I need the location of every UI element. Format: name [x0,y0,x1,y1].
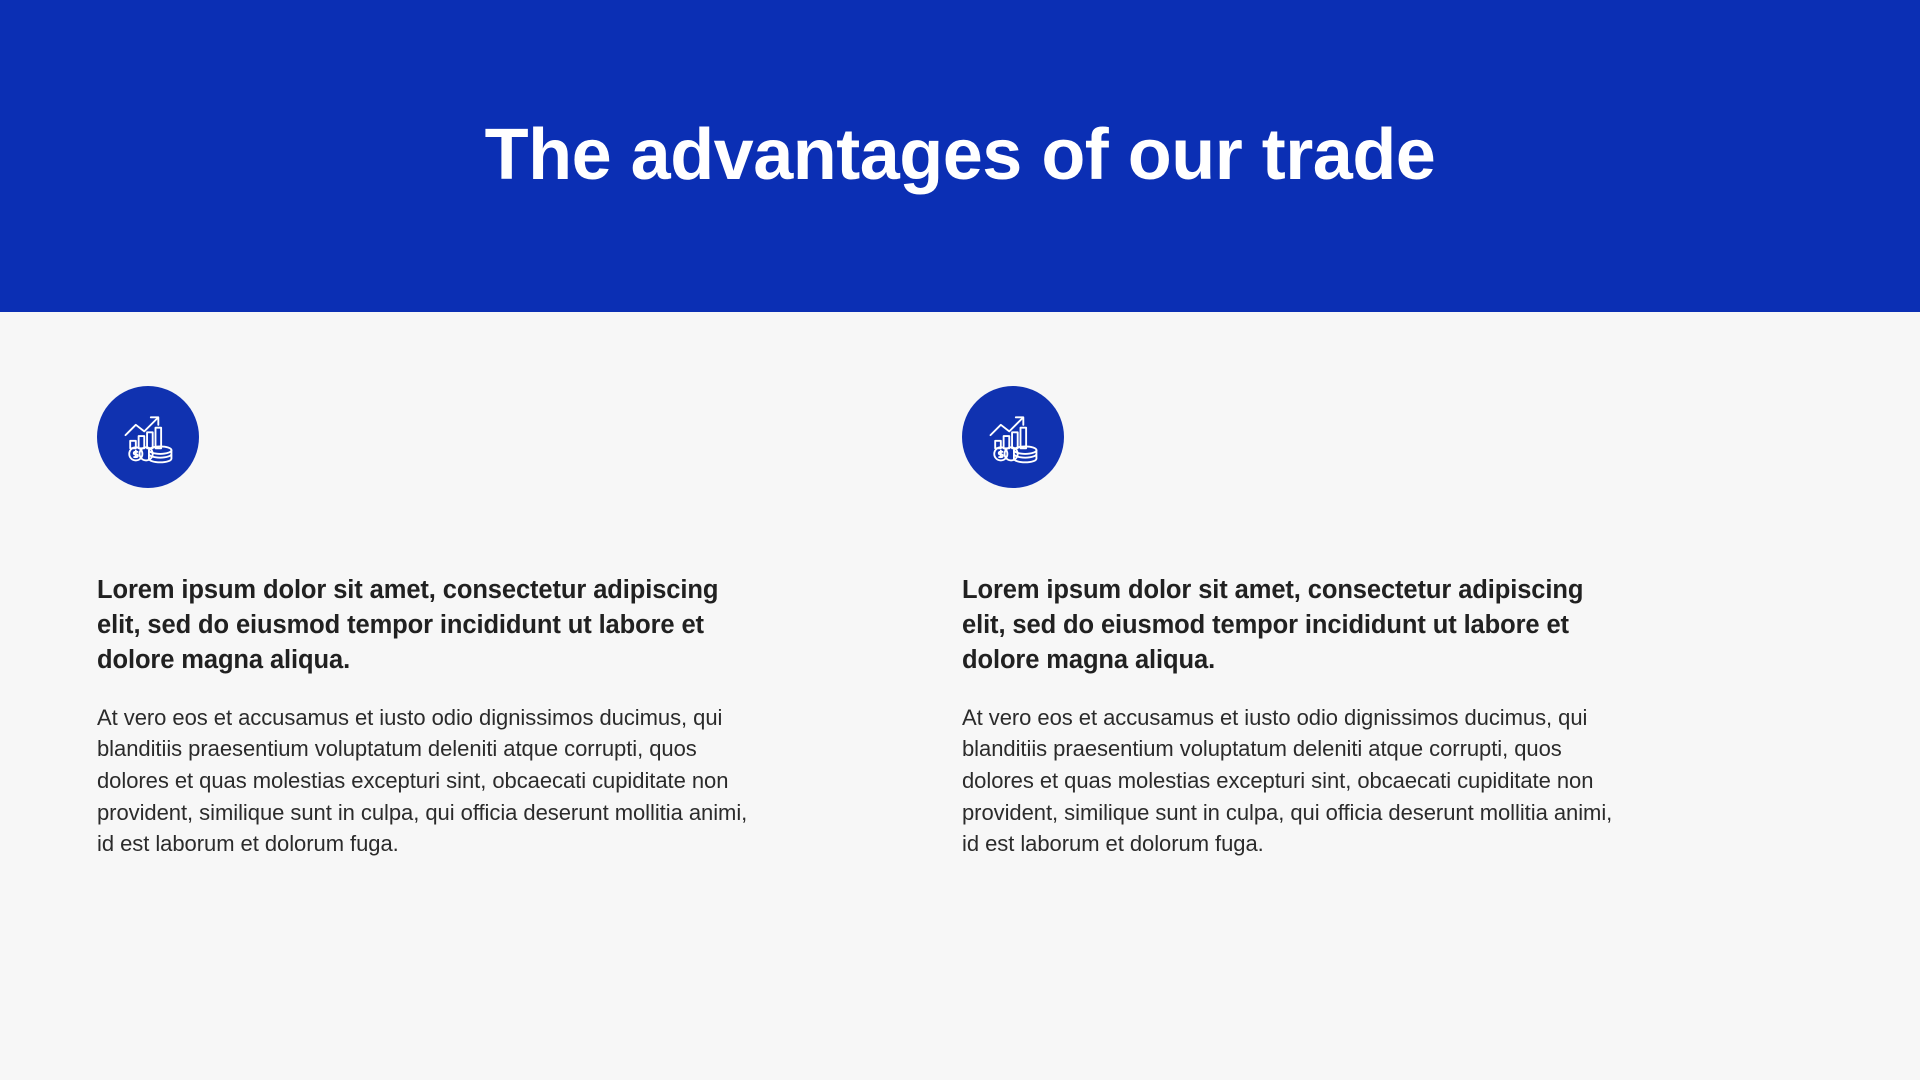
feature-heading: Lorem ipsum dolor sit amet, consectetur … [962,573,1617,678]
growth-chart-coins-icon [962,386,1064,488]
feature-body-text: At vero eos et accusamus et iusto odio d… [97,702,757,860]
growth-chart-coins-icon [97,386,199,488]
feature-column-2: Lorem ipsum dolor sit amet, consectetur … [962,386,1622,860]
content-area: Lorem ipsum dolor sit amet, consectetur … [0,312,1920,1080]
feature-column-1: Lorem ipsum dolor sit amet, consectetur … [97,386,757,860]
feature-columns: Lorem ipsum dolor sit amet, consectetur … [97,386,1823,860]
page-title: The advantages of our trade [485,118,1436,194]
presentation-slide: The advantages of our trade [0,0,1920,1080]
header-band: The advantages of our trade [0,0,1920,312]
feature-body-text: At vero eos et accusamus et iusto odio d… [962,702,1622,860]
feature-heading: Lorem ipsum dolor sit amet, consectetur … [97,573,752,678]
